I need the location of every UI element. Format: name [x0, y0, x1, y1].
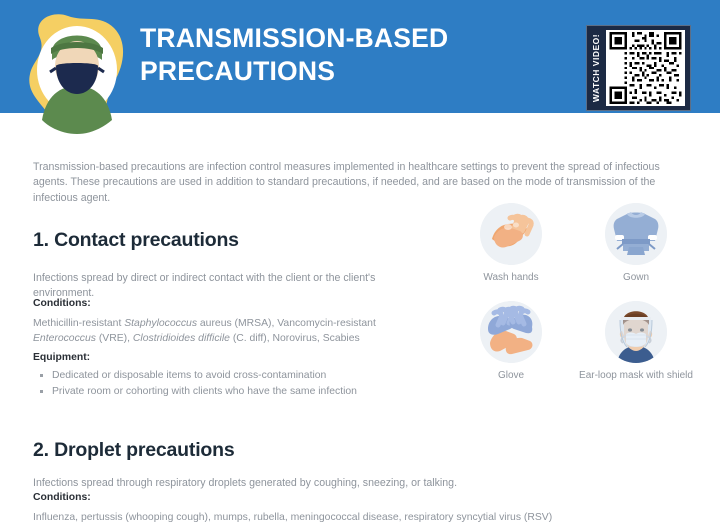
page-content: Transmission-based precautions are infec… [0, 113, 720, 521]
watch-video-label-text: WATCH VIDEO! [592, 34, 602, 102]
conditions-text-droplet: Influenza, pertussis (whooping cough), m… [33, 510, 683, 525]
equipment-list-contact: Dedicated or disposable items to avoid c… [36, 368, 466, 400]
page-title-line1: TRANSMISSION-BASED [140, 23, 448, 53]
section-title-contact-precautions: 1. Contact precautions [33, 229, 239, 252]
masked-person-logo [22, 8, 132, 136]
ppe-item-gown: Gown [577, 203, 695, 284]
conditions-text-contact: Methicillin-resistant Staphylococcus aur… [33, 316, 438, 346]
wash-hands-icon [480, 203, 542, 265]
conditions-label-droplet: Conditions: [33, 492, 91, 503]
ppe-label: Gown [577, 271, 695, 284]
qr-code[interactable] [606, 30, 685, 106]
ear-loop-mask-with-shield-icon [605, 301, 667, 363]
section-title-droplet-precautions: 2. Droplet precautions [33, 439, 234, 462]
ppe-label: Glove [452, 369, 570, 382]
page-title: TRANSMISSION-BASED PRECAUTIONS [140, 22, 570, 88]
section-lead-contact-precautions: Infections spread by direct or indirect … [33, 271, 433, 302]
ppe-label: Wash hands [452, 271, 570, 284]
page-header: TRANSMISSION-BASED PRECAUTIONS WATCH VID… [0, 0, 720, 113]
conditions-label-contact: Conditions: [33, 298, 91, 309]
list-item: Dedicated or disposable items to avoid c… [36, 368, 466, 384]
ppe-label: Ear-loop mask with shield [577, 369, 695, 382]
glove-icon [480, 301, 542, 363]
watch-video-label: WATCH VIDEO! [587, 26, 606, 110]
list-item: Private room or cohorting with clients w… [36, 384, 466, 400]
intro-paragraph: Transmission-based precautions are infec… [33, 160, 690, 207]
ppe-item-glove: Glove [452, 301, 570, 382]
gown-icon [605, 203, 667, 265]
ppe-icon-grid: Wash hands Gown [452, 203, 702, 403]
watch-video-qr-block[interactable]: WATCH VIDEO! [586, 25, 691, 111]
equipment-label-contact: Equipment: [33, 352, 90, 363]
page-title-line2: PRECAUTIONS [140, 55, 570, 88]
ppe-item-wash-hands: Wash hands [452, 203, 570, 284]
ppe-item-ear-loop-mask-with-shield: Ear-loop mask with shield [577, 301, 695, 382]
section-lead-droplet-precautions: Infections spread through respiratory dr… [33, 476, 673, 491]
